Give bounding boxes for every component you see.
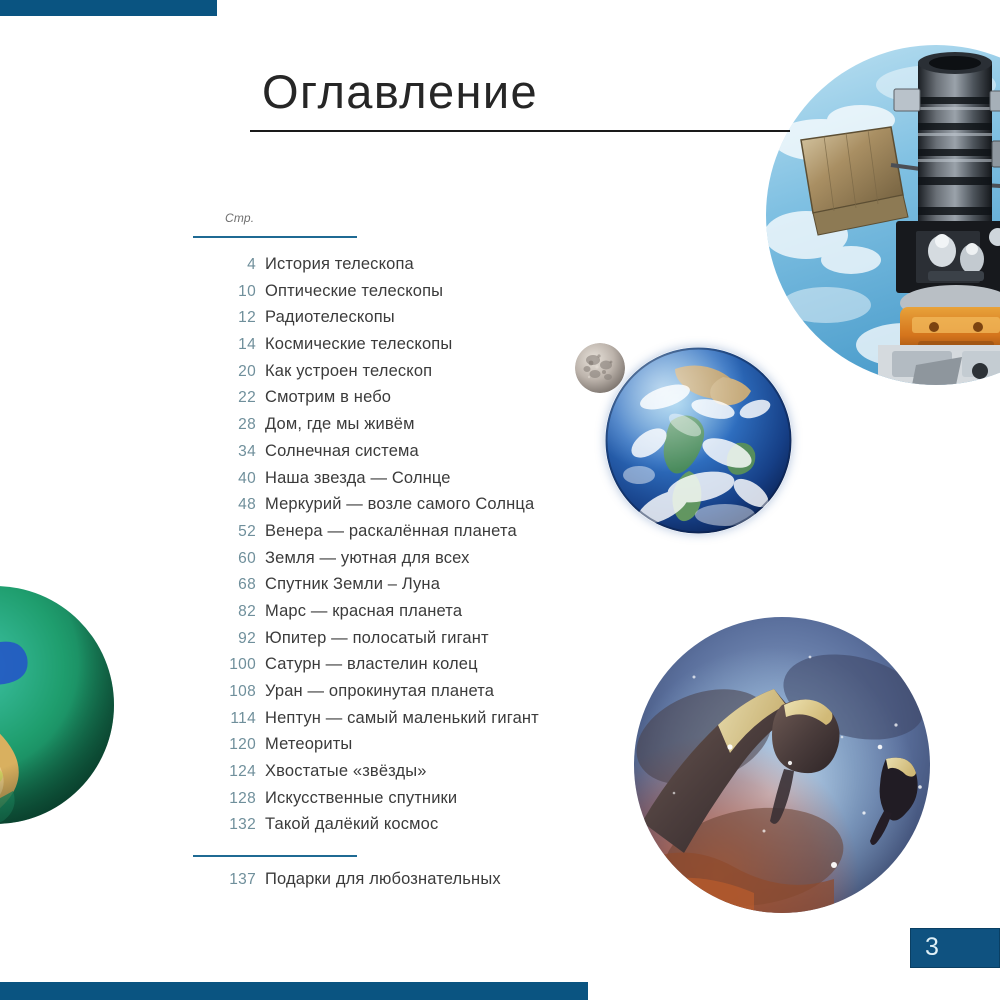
contents-top-divider [193, 236, 357, 238]
toc-entry-title: Смотрим в небо [256, 388, 391, 407]
toc-entry[interactable]: 40Наша звезда — Солнце [193, 469, 613, 496]
toc-entry-title: Подарки для любознательных [256, 870, 501, 889]
toc-entry-title: Космические телескопы [256, 335, 452, 354]
toc-entry[interactable]: 28Дом, где мы живём [193, 415, 613, 442]
bottom-accent-bar [0, 982, 588, 1000]
toc-entry-page-number: 12 [193, 309, 256, 327]
toc-entry-page-number: 114 [193, 710, 256, 728]
toc-entry[interactable]: 20Как устроен телескоп [193, 362, 613, 389]
page-title: Оглавление [262, 68, 538, 115]
toc-entry-title: История телескопа [256, 255, 414, 274]
toc-entry-page-number: 10 [193, 283, 256, 301]
toc-entry[interactable]: 132Такой далёкий космос [193, 815, 613, 842]
toc-entry[interactable]: 120Метеориты [193, 735, 613, 762]
page-number-value: 3 [925, 935, 939, 960]
table-of-contents-list: 4История телескопа10Оптические телескопы… [193, 255, 613, 842]
toc-entry-title: Хвостатые «звёзды» [256, 762, 427, 781]
toc-entry[interactable]: 82Марс — красная планета [193, 602, 613, 629]
toc-entry-page-number: 20 [193, 363, 256, 381]
toc-entry[interactable]: 124Хвостатые «звёзды» [193, 762, 613, 789]
toc-entry-title: Земля — уютная для всех [256, 549, 469, 568]
toc-entry-title: Солнечная система [256, 442, 419, 461]
toc-entry[interactable]: 48Меркурий — возле самого Солнца [193, 495, 613, 522]
toc-entry-page-number: 40 [193, 470, 256, 488]
toc-entry-page-number: 108 [193, 683, 256, 701]
toc-entry-page-number: 22 [193, 389, 256, 407]
nebula-photo [634, 617, 930, 913]
toc-entry-title: Марс — красная планета [256, 602, 462, 621]
hubble-space-telescope-photo [766, 45, 1000, 385]
toc-entry-title: Наша звезда — Солнце [256, 469, 451, 488]
toc-entry-title: Радиотелескопы [256, 308, 395, 327]
venus-radar-map-photo [0, 585, 115, 825]
toc-entry[interactable]: 114Нептун — самый маленький гигант [193, 709, 613, 736]
toc-entry-title: Нептун — самый маленький гигант [256, 709, 539, 728]
toc-entry-page-number: 14 [193, 336, 256, 354]
title-underline [250, 130, 790, 132]
toc-entry-title: Метеориты [256, 735, 352, 754]
toc-entry-title: Такой далёкий космос [256, 815, 438, 834]
page-column-label: Стр. [225, 211, 254, 225]
toc-entry[interactable]: 14Космические телескопы [193, 335, 613, 362]
toc-entry[interactable]: 10Оптические телескопы [193, 282, 613, 309]
toc-entry[interactable]: 12Радиотелескопы [193, 308, 613, 335]
toc-entry-page-number: 34 [193, 443, 256, 461]
toc-entry-page-number: 52 [193, 523, 256, 541]
toc-entry-title: Сатурн — властелин колец [256, 655, 478, 674]
toc-entry-title: Юпитер — полосатый гигант [256, 629, 489, 648]
toc-entry-title: Спутник Земли – Луна [256, 575, 440, 594]
toc-page: Оглавление Стр. 4История телескопа10Опти… [0, 0, 1000, 1000]
toc-entry[interactable]: 22Смотрим в небо [193, 388, 613, 415]
toc-entry-page-number: 68 [193, 576, 256, 594]
toc-entry[interactable]: 60Земля — уютная для всех [193, 549, 613, 576]
toc-entry-page-number: 124 [193, 763, 256, 781]
toc-entry[interactable]: 100Сатурн — властелин колец [193, 655, 613, 682]
toc-entry[interactable]: 68Спутник Земли – Луна [193, 575, 613, 602]
toc-entry[interactable]: 137Подарки для любознательных [193, 870, 613, 897]
toc-entry-page-number: 4 [193, 256, 256, 274]
toc-entry[interactable]: 52Венера — раскалённая планета [193, 522, 613, 549]
toc-entry[interactable]: 4История телескопа [193, 255, 613, 282]
toc-entry[interactable]: 108Уран — опрокинутая планета [193, 682, 613, 709]
toc-entry-title: Искусственные спутники [256, 789, 457, 808]
toc-entry-page-number: 120 [193, 736, 256, 754]
toc-entry-page-number: 137 [193, 871, 256, 889]
contents-bottom-divider [193, 855, 357, 857]
toc-entry-title: Дом, где мы живём [256, 415, 415, 434]
toc-entry-page-number: 48 [193, 496, 256, 514]
toc-entry-page-number: 92 [193, 630, 256, 648]
toc-entry-title: Меркурий — возле самого Солнца [256, 495, 534, 514]
page-number-badge: 3 [910, 928, 1000, 968]
toc-entry-page-number: 132 [193, 816, 256, 834]
toc-entry-title: Оптические телескопы [256, 282, 443, 301]
toc-entry-page-number: 100 [193, 656, 256, 674]
toc-entry-title: Как устроен телескоп [256, 362, 432, 381]
toc-entry-page-number: 82 [193, 603, 256, 621]
table-of-contents-appendix: 137Подарки для любознательных [193, 870, 613, 897]
toc-entry-title: Уран — опрокинутая планета [256, 682, 494, 701]
toc-entry-page-number: 28 [193, 416, 256, 434]
top-accent-bar [0, 0, 217, 16]
toc-entry[interactable]: 34Солнечная система [193, 442, 613, 469]
earth-planet-photo [605, 347, 792, 534]
toc-entry[interactable]: 92Юпитер — полосатый гигант [193, 629, 613, 656]
toc-entry-page-number: 60 [193, 550, 256, 568]
toc-entry-title: Венера — раскалённая планета [256, 522, 517, 541]
toc-entry[interactable]: 128Искусственные спутники [193, 789, 613, 816]
toc-entry-page-number: 128 [193, 790, 256, 808]
